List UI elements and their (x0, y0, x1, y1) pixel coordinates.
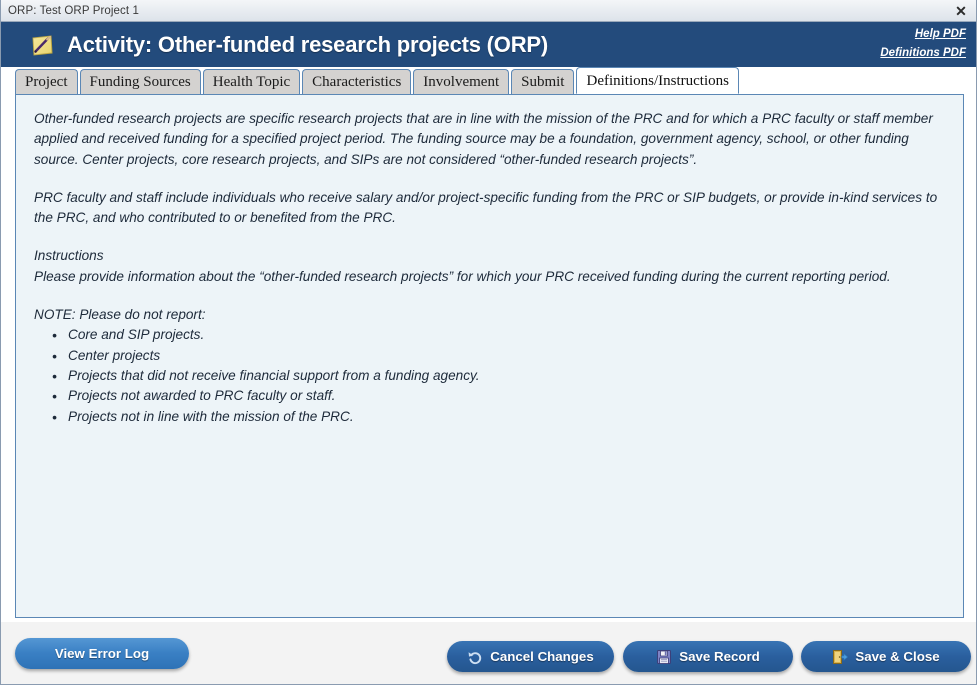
list-item: Projects not awarded to PRC faculty or s… (52, 386, 945, 406)
exit-door-icon (832, 649, 848, 665)
page-header: Activity: Other-funded research projects… (1, 22, 976, 67)
list-item: Projects that did not receive financial … (52, 366, 945, 386)
list-item: Core and SIP projects. (52, 325, 945, 345)
help-pdf-link[interactable]: Help PDF (880, 25, 966, 44)
window-titlebar: ORP: Test ORP Project 1 ✕ (1, 0, 976, 22)
view-error-log-label: View Error Log (55, 646, 149, 661)
tab-health-topic[interactable]: Health Topic (203, 69, 300, 94)
footer-toolbar: View Error Log Cancel Changes (1, 621, 976, 684)
note-heading: NOTE: Please do not report: (34, 305, 945, 325)
note-list: Core and SIP projects. Center projects P… (34, 325, 945, 426)
save-and-close-label: Save & Close (855, 649, 939, 664)
floppy-disk-icon (656, 649, 672, 665)
header-links: Help PDF Definitions PDF (880, 25, 966, 63)
cancel-changes-button[interactable]: Cancel Changes (447, 641, 614, 672)
tab-project[interactable]: Project (15, 69, 78, 94)
cancel-changes-label: Cancel Changes (490, 649, 593, 664)
undo-arrow-icon (467, 649, 483, 665)
tab-bar: Project Funding Sources Health Topic Cha… (1, 67, 976, 94)
window-title: ORP: Test ORP Project 1 (1, 5, 139, 17)
list-item: Projects not in line with the mission of… (52, 407, 945, 427)
page-title: Activity: Other-funded research projects… (67, 32, 548, 58)
note-pencil-icon (29, 32, 55, 58)
save-record-button[interactable]: Save Record (623, 641, 793, 672)
definition-paragraph-1: Other-funded research projects are speci… (34, 109, 945, 170)
tab-characteristics[interactable]: Characteristics (302, 69, 411, 94)
application-window: ORP: Test ORP Project 1 ✕ Activity: Othe… (0, 0, 977, 685)
list-item: Center projects (52, 346, 945, 366)
tab-funding-sources[interactable]: Funding Sources (80, 69, 201, 94)
tab-involvement[interactable]: Involvement (413, 69, 509, 94)
tab-definitions-instructions[interactable]: Definitions/Instructions (576, 67, 739, 94)
close-icon[interactable]: ✕ (952, 2, 970, 20)
definition-paragraph-2: PRC faculty and staff include individual… (34, 188, 945, 229)
view-error-log-button[interactable]: View Error Log (15, 638, 189, 669)
definitions-instructions-panel: Other-funded research projects are speci… (15, 94, 964, 618)
instructions-body: Please provide information about the “ot… (34, 267, 945, 287)
instructions-heading: Instructions (34, 246, 945, 266)
tab-submit[interactable]: Submit (511, 69, 574, 94)
save-and-close-button[interactable]: Save & Close (801, 641, 971, 672)
save-record-label: Save Record (679, 649, 760, 664)
definitions-pdf-link[interactable]: Definitions PDF (880, 44, 966, 63)
